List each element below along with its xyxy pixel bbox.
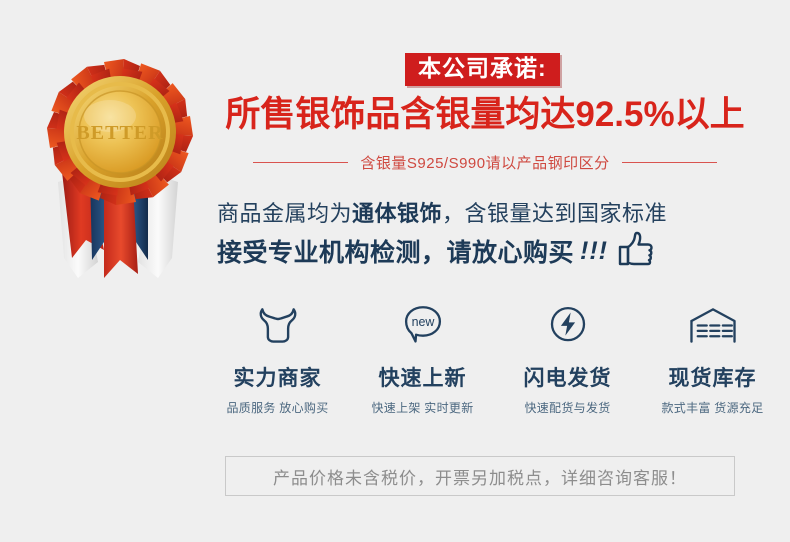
new-speech-bubble-icon: new bbox=[396, 300, 450, 350]
feature-subtitle: 快速上架 实时更新 bbox=[371, 399, 473, 416]
warehouse-icon bbox=[686, 300, 740, 350]
feature-list: 实力商家 品质服务 放心购买 new 快速上新 快速上架 实时更新 bbox=[205, 300, 785, 416]
feature-item-fast-new-arrivals: new 快速上新 快速上架 实时更新 bbox=[350, 300, 495, 416]
feature-title: 快速上新 bbox=[379, 362, 467, 392]
feature-title: 实力商家 bbox=[234, 362, 322, 392]
subtitle-rule-right bbox=[622, 162, 717, 163]
promise-banner: 本公司承诺: bbox=[405, 53, 560, 86]
feature-title: 现货库存 bbox=[669, 362, 757, 392]
tax-notice-text: 产品价格未含税价，开票另加税点，详细咨询客服！ bbox=[273, 464, 687, 489]
body-line-1: 商品金属均为通体银饰，含银量达到国家标准 bbox=[217, 196, 777, 228]
subtitle-rule-left bbox=[253, 162, 348, 163]
feature-item-lightning-shipping: 闪电发货 快速配货与发货 bbox=[495, 300, 640, 416]
feature-title: 闪电发货 bbox=[524, 362, 612, 392]
medal-center-label: BETTER bbox=[76, 122, 163, 144]
rosette-icon: BETTER bbox=[46, 58, 194, 206]
feature-item-in-stock: 现货库存 款式丰富 货源充足 bbox=[640, 300, 785, 416]
tax-notice-box: 产品价格未含税价，开票另加税点，详细咨询客服！ bbox=[225, 456, 735, 496]
promotion-poster: BETTER 本公司承诺: 所售银饰品含银量均达92.5%以上 含银量S925/… bbox=[0, 0, 790, 542]
body-line1-strong: 通体银饰 bbox=[352, 201, 442, 226]
content-column: 本公司承诺: 所售银饰品含银量均达92.5%以上 含银量S925/S990请以产… bbox=[205, 0, 790, 542]
bull-head-icon bbox=[251, 300, 305, 350]
headline-text: 所售银饰品含银量均达92.5%以上 bbox=[205, 95, 765, 135]
new-badge-label: new bbox=[411, 315, 435, 329]
feature-subtitle: 快速配货与发货 bbox=[524, 399, 610, 416]
subtitle-row: 含银量S925/S990请以产品钢印区分 bbox=[205, 152, 765, 173]
lightning-bolt-circle-icon bbox=[541, 300, 595, 350]
body-line1-prefix: 商品金属均为 bbox=[217, 201, 352, 226]
thumbs-up-icon bbox=[616, 229, 656, 269]
body-line1-suffix: ，含银量达到国家标准 bbox=[442, 201, 667, 226]
body-line-2: 接受专业机构检测，请放心购买 !!! bbox=[217, 233, 777, 269]
feature-subtitle: 品质服务 放心购买 bbox=[226, 399, 328, 416]
feature-subtitle: 款式丰富 货源充足 bbox=[661, 399, 763, 416]
subtitle-text: 含银量S925/S990请以产品钢印区分 bbox=[360, 152, 609, 173]
award-medal-graphic: BETTER bbox=[28, 58, 208, 298]
feature-item-strong-merchant: 实力商家 品质服务 放心购买 bbox=[205, 300, 350, 416]
body-line2-text: 接受专业机构检测，请放心购买 bbox=[217, 233, 574, 269]
body-line2-marks: !!! bbox=[580, 237, 608, 266]
